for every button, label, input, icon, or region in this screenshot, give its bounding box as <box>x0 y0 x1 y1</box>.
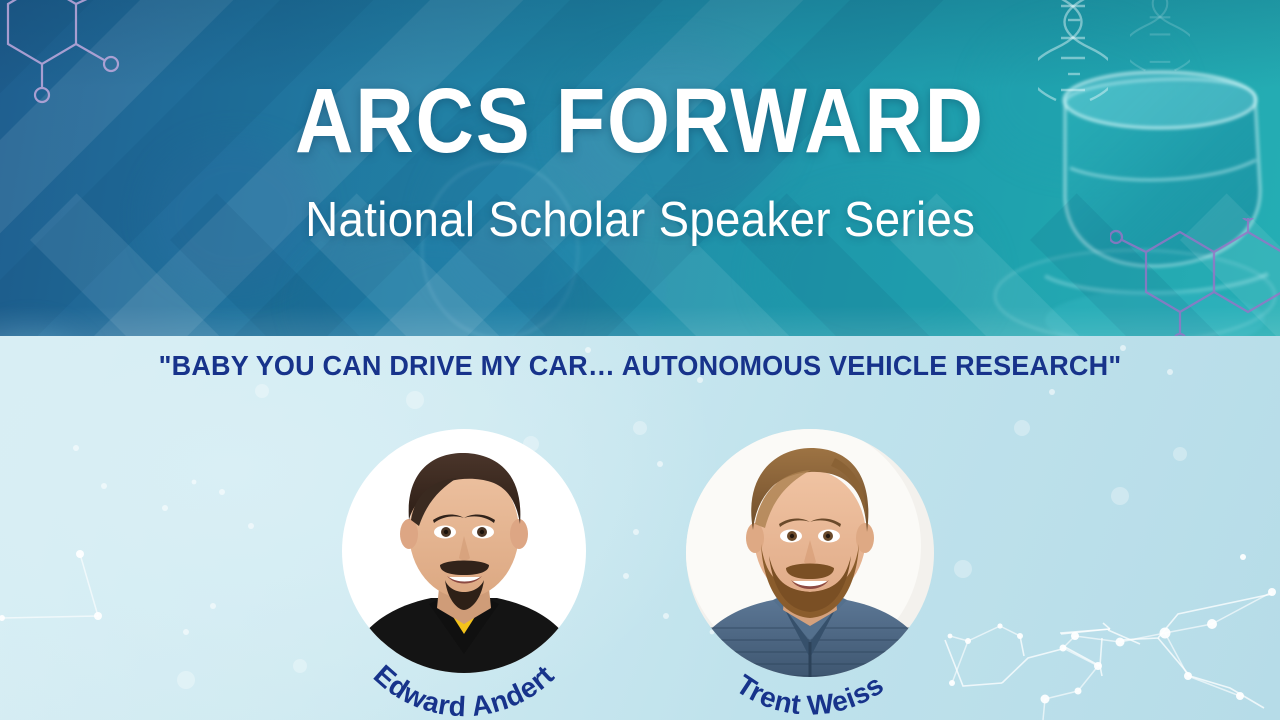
event-promo-graphic: ARCS FORWARD National Scholar Speaker Se… <box>0 0 1280 720</box>
speaker-name-text: Trent Weiss <box>731 669 889 720</box>
banner-header: ARCS FORWARD National Scholar Speaker Se… <box>0 0 1280 336</box>
speaker-name-arc-trent-weiss: Trent Weiss <box>685 624 935 720</box>
network-constellation-pattern <box>0 336 1280 720</box>
svg-text:Trent Weiss: Trent Weiss <box>731 669 889 720</box>
banner-subtitle: National Scholar Speaker Series <box>305 192 975 248</box>
session-title: "BABY YOU CAN DRIVE MY CAR… AUTONOMOUS V… <box>22 350 1257 382</box>
speaker-name-arc-edward-andert: Edward Andert <box>341 622 587 718</box>
speakers-section: "BABY YOU CAN DRIVE MY CAR… AUTONOMOUS V… <box>0 336 1280 720</box>
svg-text:Edward Andert: Edward Andert <box>368 659 560 720</box>
speaker-name-text: Edward Andert <box>368 659 560 720</box>
banner-title: ARCS FORWARD <box>295 76 985 166</box>
